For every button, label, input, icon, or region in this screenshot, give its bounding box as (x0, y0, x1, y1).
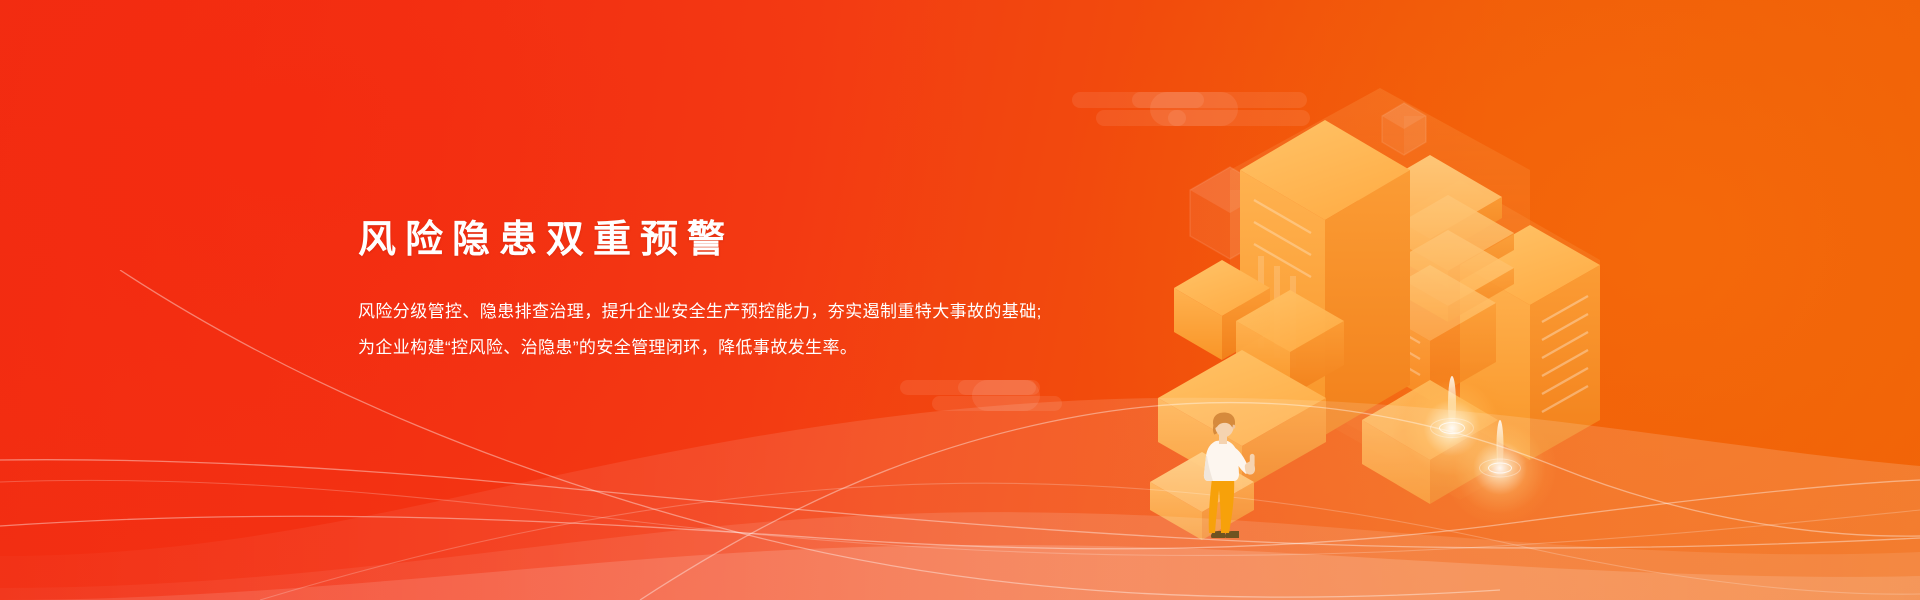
server-rack-right (1460, 225, 1600, 460)
pants-shape (1209, 478, 1234, 533)
server-stack-middle (1358, 155, 1514, 400)
alert-glow-marker-2 (1440, 408, 1560, 528)
shoe-shape (1211, 531, 1239, 538)
cloud-decoration-upper (1072, 88, 1312, 140)
isometric-server-city-illustration (1130, 60, 1690, 560)
subtitle-line-2: 为企业构建“控风险、治隐患”的安全管理闭环，降低事故发生率。 (358, 330, 1198, 366)
alert-glow-marker-1 (1392, 368, 1512, 488)
server-tower-main (1240, 120, 1410, 435)
neck-shape (1219, 435, 1227, 444)
hand-shape (1245, 454, 1255, 475)
subtitle-line-1: 风险分级管控、隐患排查治理，提升企业安全生产预控能力，夯实遏制重特大事故的基础; (358, 294, 1198, 330)
hero-banner: 风险隐患双重预警 风险分级管控、隐患排查治理，提升企业安全生产预控能力，夯实遏制… (0, 0, 1920, 600)
chevron-accent-block (1174, 260, 1344, 396)
cloud-decoration-lower (900, 378, 1100, 424)
shirt-shape (1204, 440, 1239, 481)
hero-copy: 风险隐患双重预警 风险分级管控、隐患排查治理，提升企业安全生产预控能力，夯实遏制… (358, 216, 1198, 366)
head-shape (1213, 413, 1235, 438)
person-pointing-figure (1198, 412, 1270, 544)
platform-block-lower-left (1158, 350, 1326, 490)
arm-shape (1230, 446, 1251, 474)
small-tilted-box (1150, 452, 1254, 540)
hero-subtitle: 风险分级管控、隐患排查治理，提升企业安全生产预控能力，夯实遏制重特大事故的基础;… (358, 294, 1198, 366)
page-title: 风险隐患双重预警 (358, 216, 1198, 264)
block-lower-right (1362, 380, 1498, 504)
